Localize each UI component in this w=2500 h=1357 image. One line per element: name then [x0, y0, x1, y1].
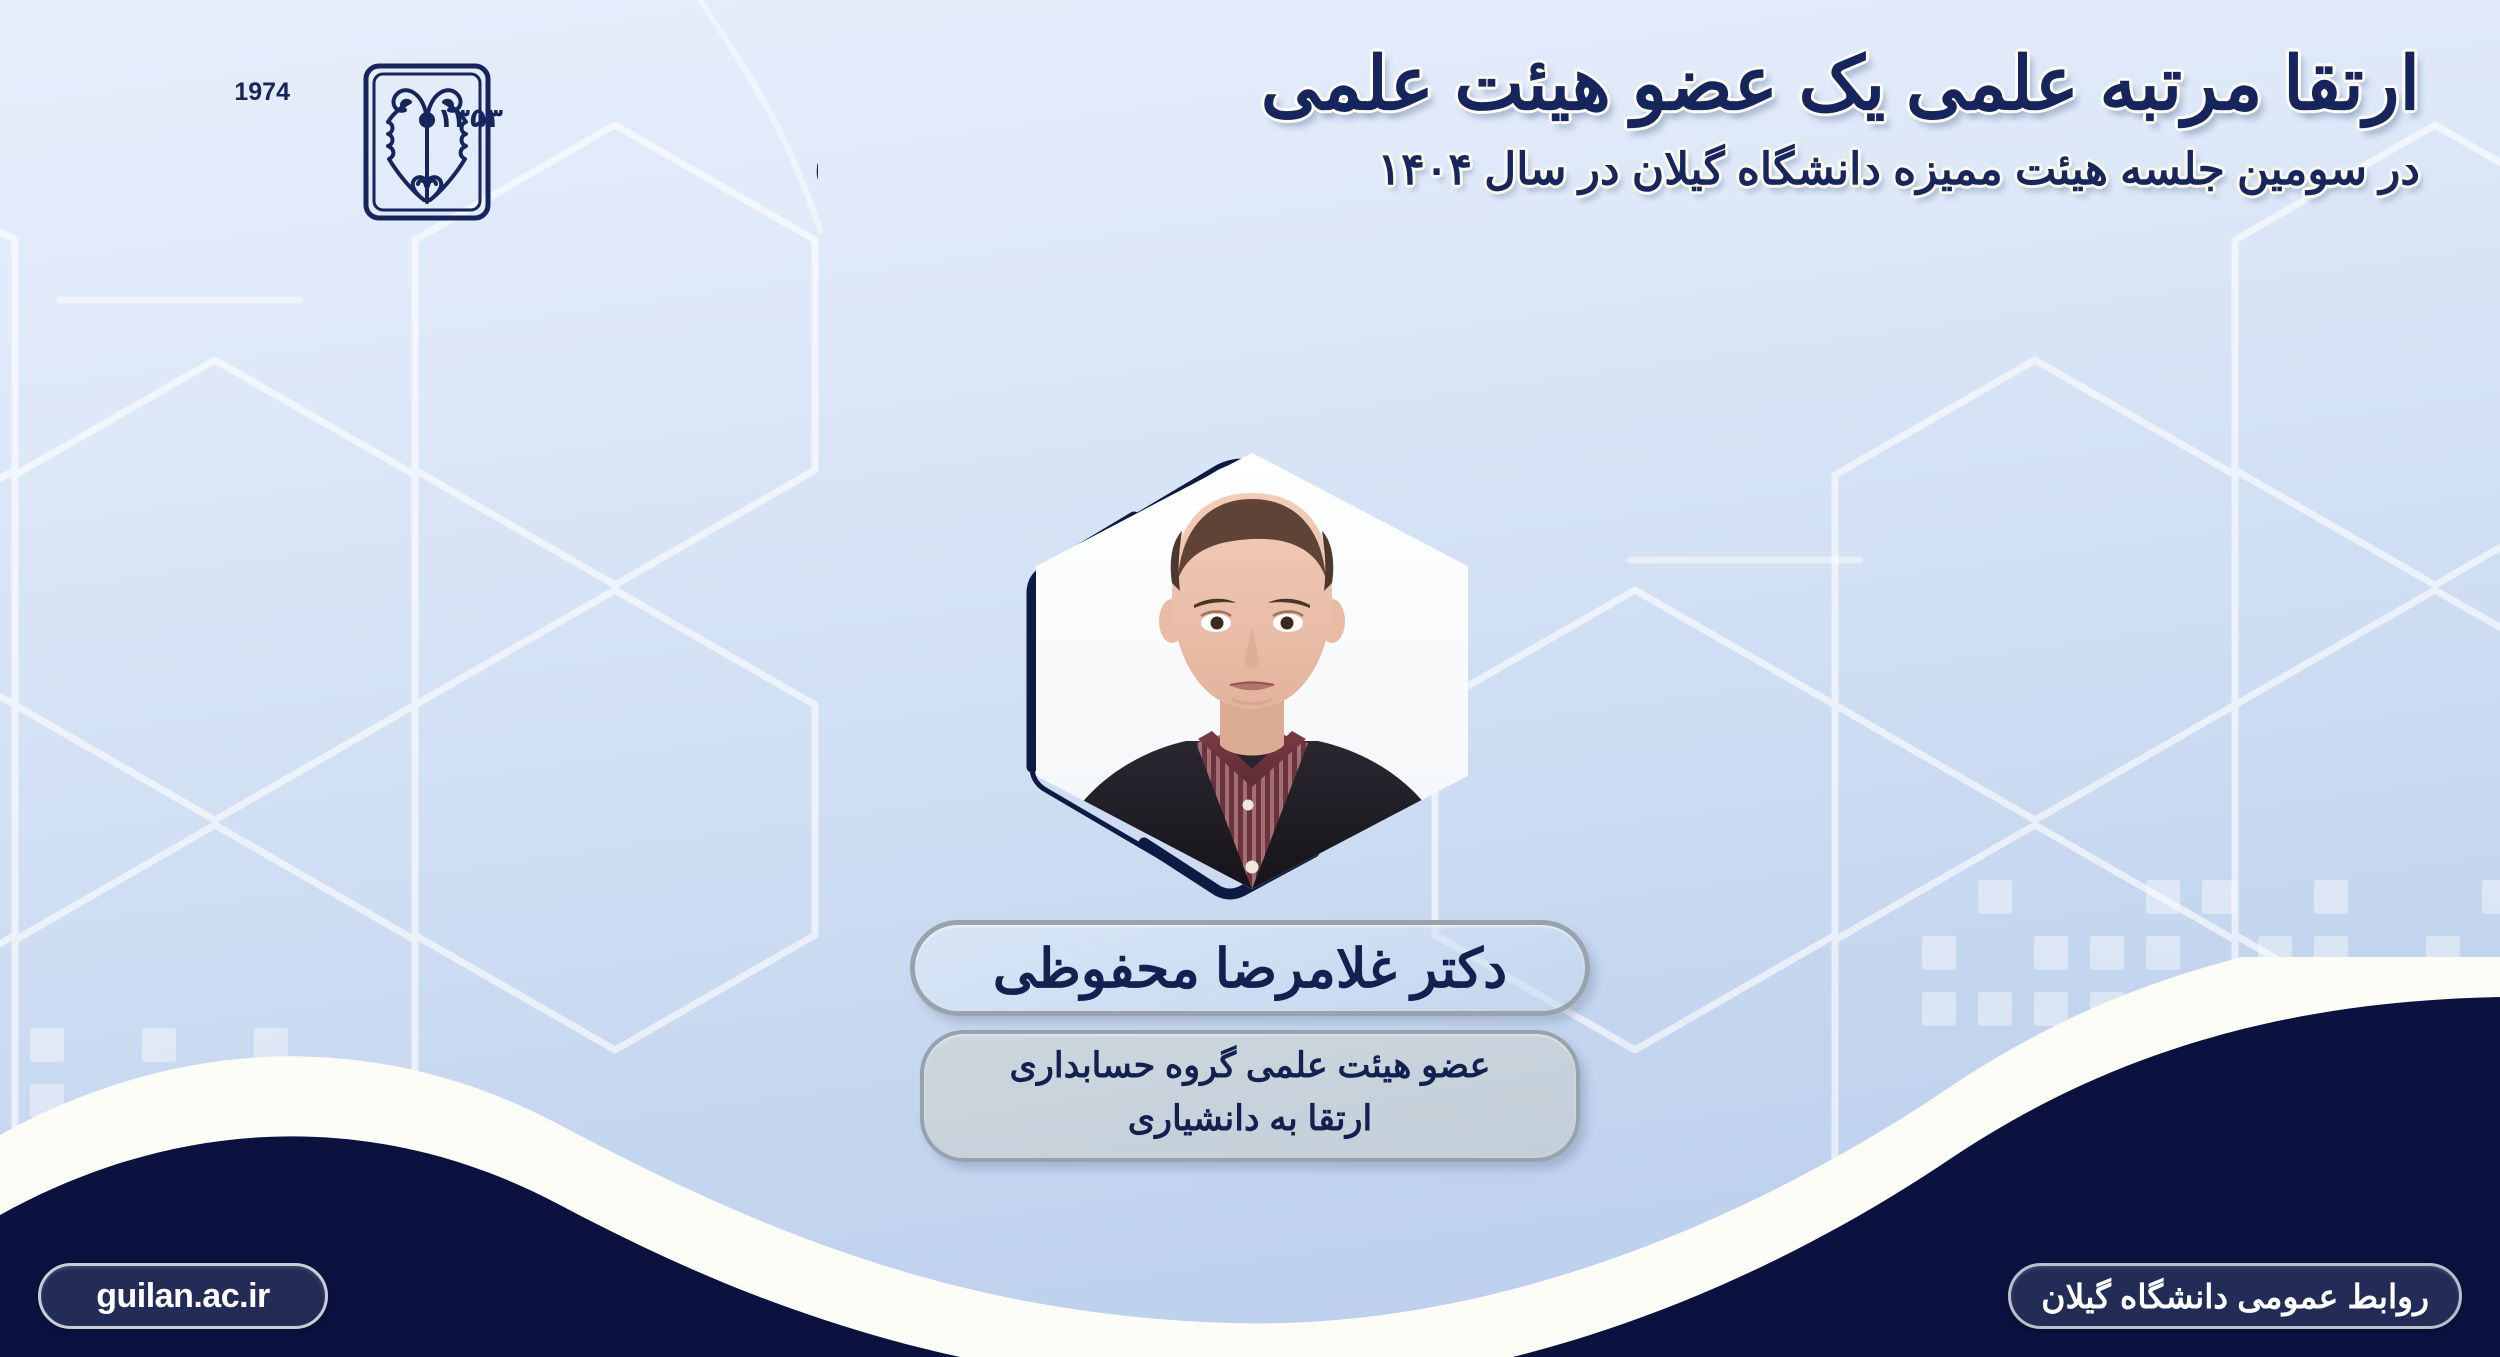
poster-canvas: University of Guilan 1974 ۱۳۵۳ دانشگاه گ…	[0, 0, 2500, 1357]
website-pill[interactable]: guilan.ac.ir	[38, 1263, 328, 1329]
svg-text:دانشگاه گیلان: دانشگاه گیلان	[809, 86, 818, 197]
logo-persian-wordmark: دانشگاه گیلان	[809, 86, 818, 197]
person-name-badge: دکتر غلامرضا محفوظی	[910, 920, 1590, 1016]
public-relations-pill[interactable]: روابط عمومی دانشگاه گیلان	[2008, 1263, 2462, 1329]
guilan-butterfly-emblem	[366, 66, 488, 218]
logo-year-gregorian: 1974	[234, 78, 290, 106]
website-label: guilan.ac.ir	[96, 1277, 270, 1316]
university-logo: University of Guilan 1974 ۱۳۵۳ دانشگاه گ…	[118, 52, 818, 237]
logo-english-line2: Guilan	[118, 147, 126, 194]
person-name: دکتر غلامرضا محفوظی	[993, 937, 1507, 1000]
person-role-line2: ارتقا به دانشیاری	[1128, 1094, 1373, 1145]
logo-year-persian: ۱۳۵۳	[437, 103, 503, 134]
public-relations-label: روابط عمومی دانشگاه گیلان	[2041, 1277, 2429, 1316]
person-role-line1: عضو هیئت علمی گروه حسابداری	[1010, 1041, 1491, 1092]
header-title-block: ارتقا مرتبه علمی یک عضو هیئت علمی در سوم…	[1100, 40, 2420, 199]
person-role-badge: عضو هیئت علمی گروه حسابداری ارتقا به دان…	[920, 1030, 1580, 1162]
decorative-square-grid-right	[1922, 880, 2500, 1138]
page-subtitle: در سومین جلسه هیئت ممیزه دانشگاه گیلان د…	[1100, 141, 2420, 198]
portrait-frame	[1014, 445, 1484, 905]
page-title: ارتقا مرتبه علمی یک عضو هیئت علمی	[1100, 40, 2420, 127]
